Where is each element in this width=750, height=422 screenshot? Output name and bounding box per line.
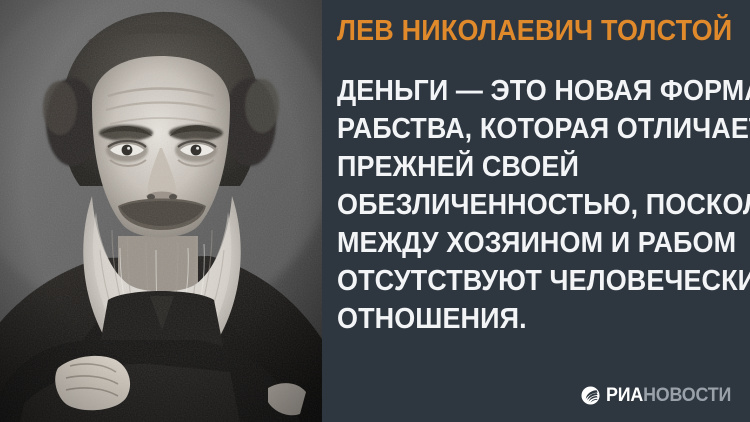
ria-novosti-wordmark: РИАНОВОСТИ [606,386,731,405]
logo-novosti-text: НОВОСТИ [643,385,731,406]
author-name: ЛЕВ НИКОЛАЕВИЧ ТОЛСТОЙ [337,14,709,48]
ria-novosti-logo: РИАНОВОСТИ [581,385,739,405]
quote-text-panel: ЛЕВ НИКОЛАЕВИЧ ТОЛСТОЙ ДЕНЬГИ — ЭТО НОВА… [322,0,750,422]
quote-line: РАБСТВА, КОТОРАЯ ОТЛИЧАЕТСЯ ОТ [337,110,711,148]
quote-text: ДЕНЬГИ — ЭТО НОВАЯ ФОРМА РАБСТВА, КОТОРА… [337,72,739,338]
portrait-photo-image [0,0,322,422]
quote-line: МЕЖДУ ХОЗЯИНОМ И РАБОМ [337,224,711,262]
portrait-photo [0,0,322,422]
logo-ria-text: РИА [606,385,643,406]
quote-line: ДЕНЬГИ — ЭТО НОВАЯ ФОРМА [337,72,711,110]
quote-card: ЛЕВ НИКОЛАЕВИЧ ТОЛСТОЙ ДЕНЬГИ — ЭТО НОВА… [0,0,750,422]
quote-line: ОБЕЗЛИЧЕННОСТЬЮ, ПОСКОЛЬКУ [337,186,711,224]
quote-line: ОТСУТСТВУЮТ ЧЕЛОВЕЧЕСКИЕ [337,262,711,300]
quote-line: ОТНОШЕНИЯ. [337,300,711,338]
ria-swirl-icon [581,386,600,405]
quote-line: ПРЕЖНЕЙ СВОЕЙ [337,148,711,186]
